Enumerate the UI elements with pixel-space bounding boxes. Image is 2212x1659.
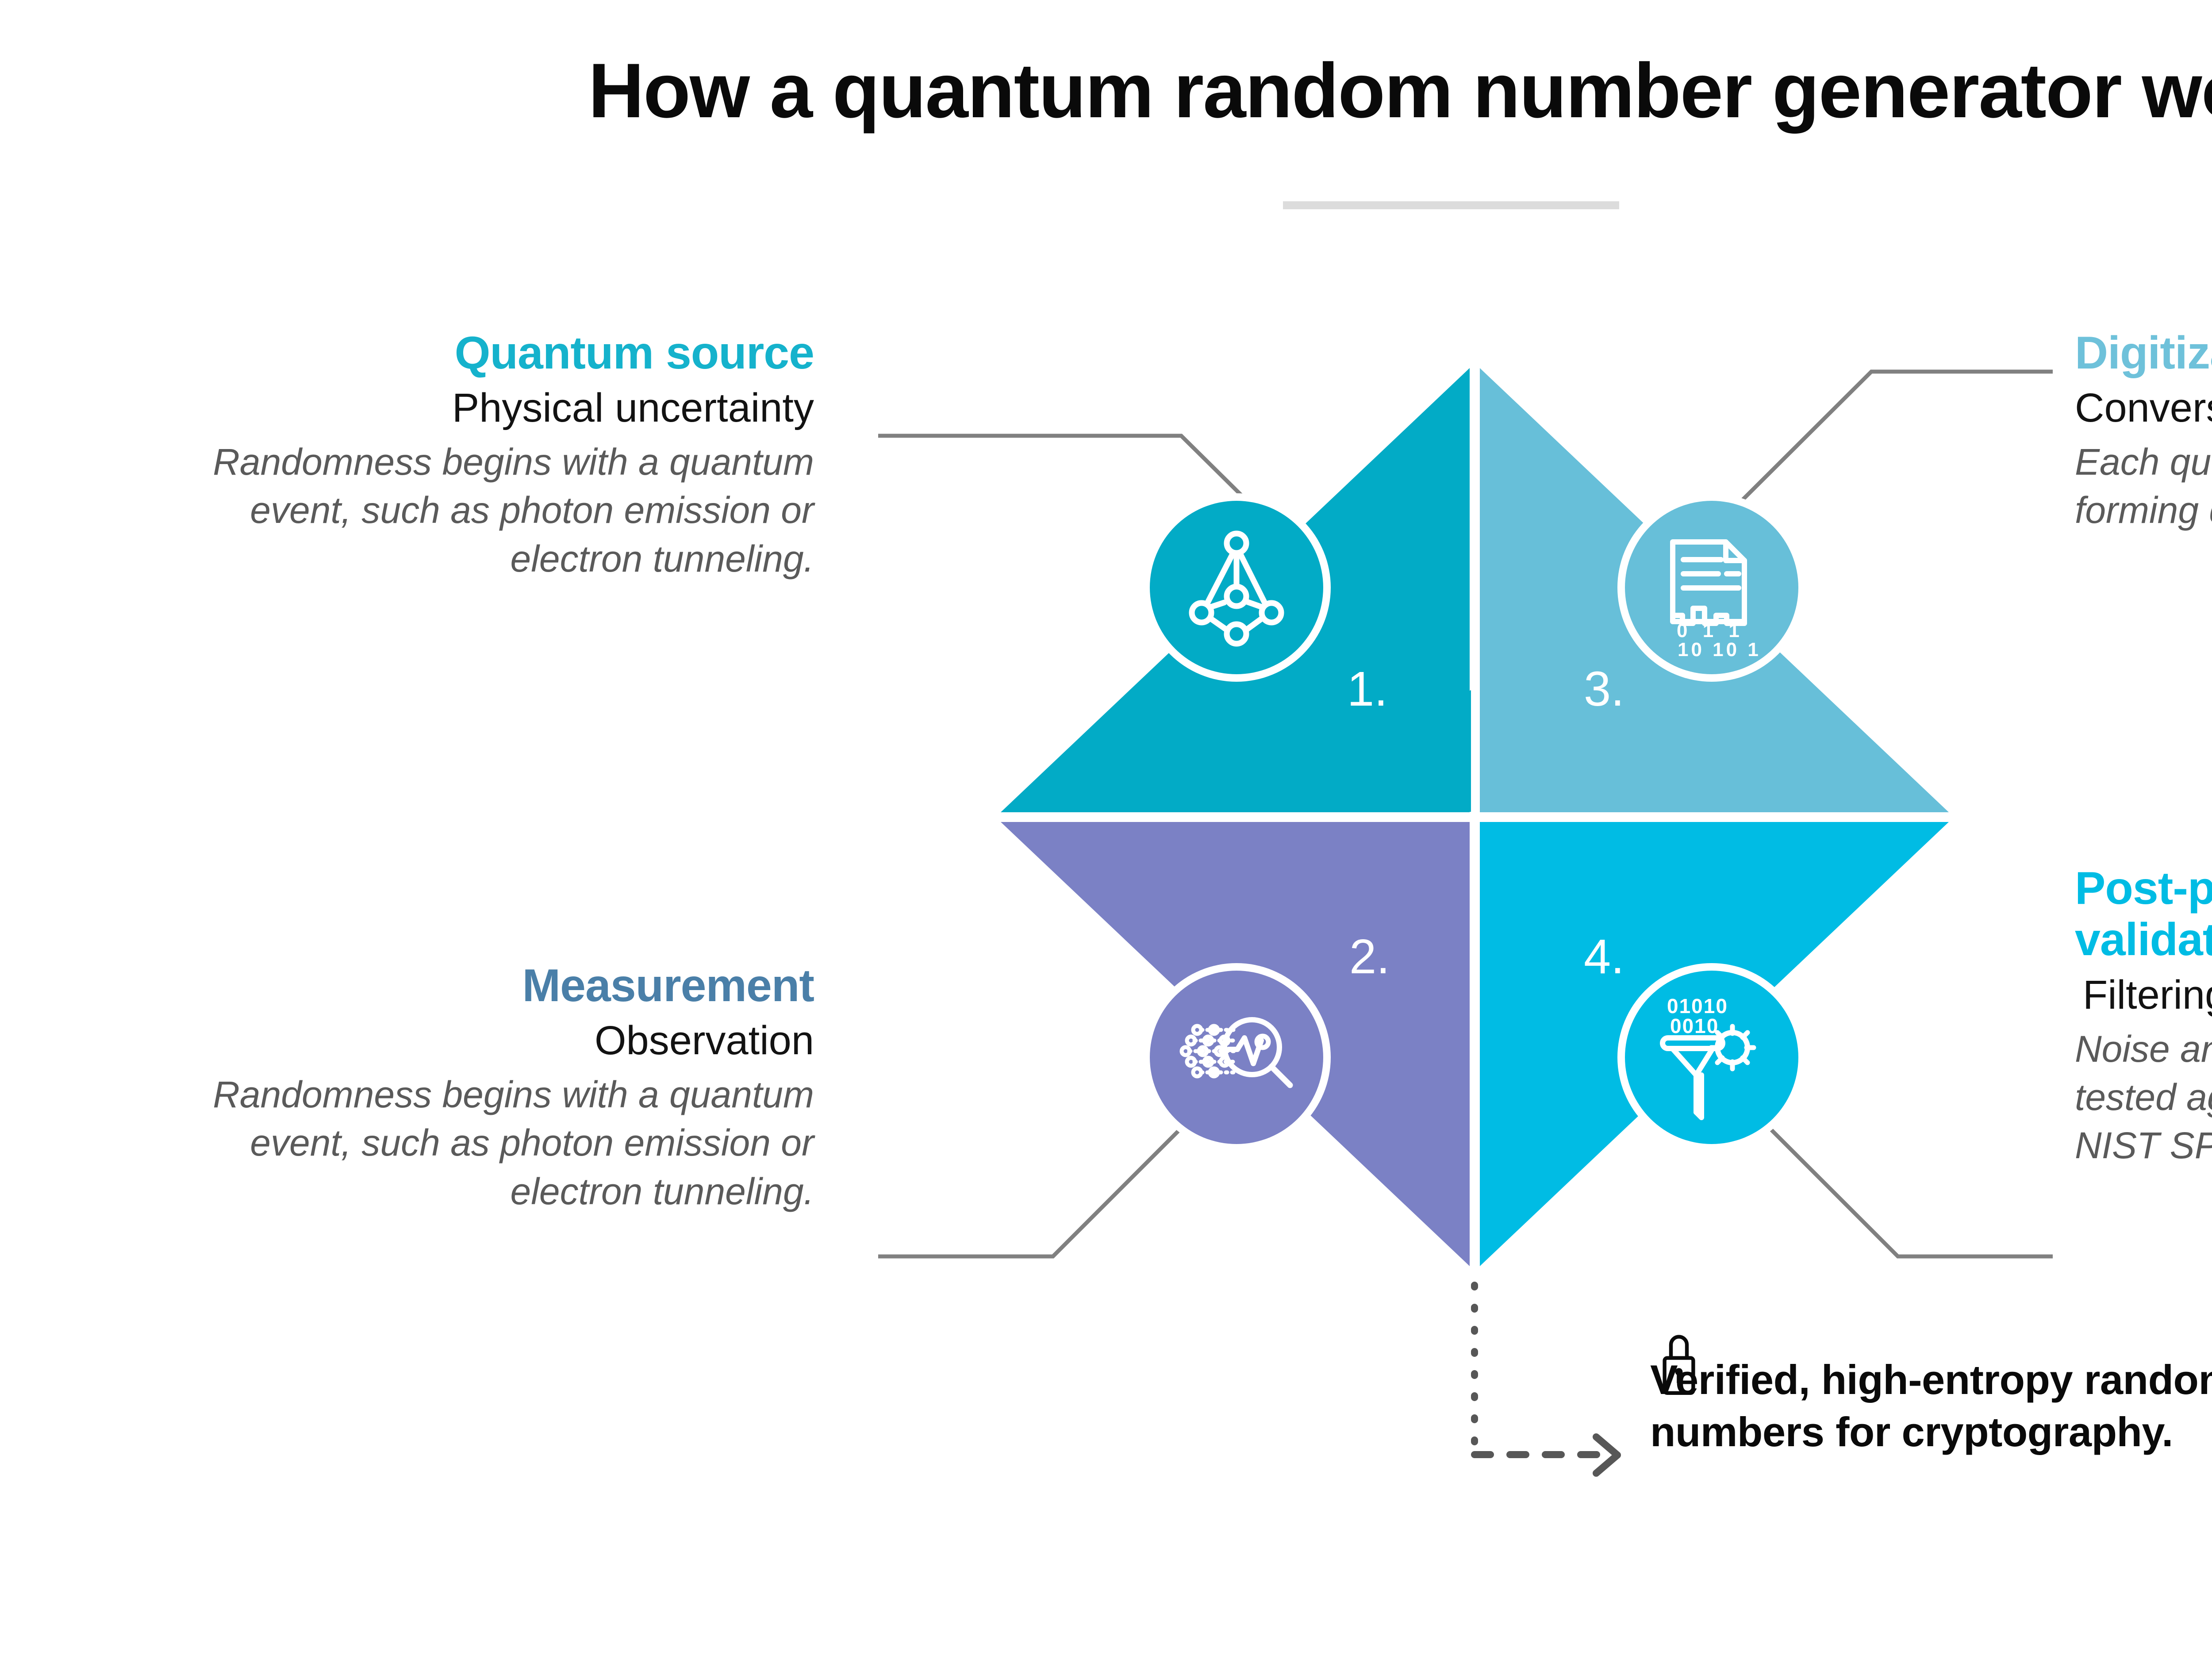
step-block-digitization: Digitization Conversion to binary Each q… (2075, 327, 2212, 535)
step-block-measurement: Measurement Observation Randomness begin… (142, 960, 814, 1216)
step-1-icon-badge[interactable] (1142, 493, 1331, 682)
step-3-description: Each quantum event becomes a 0 or 1, for… (2075, 438, 2212, 534)
step-2-subtitle: Observation (142, 1018, 814, 1064)
step-3-binary-bottom: 10 10 1 (1678, 639, 1761, 661)
step-1-heading: Quantum source (142, 327, 814, 379)
step-2-icon-circle (1150, 971, 1323, 1144)
step-number-3: 3. (1584, 662, 1624, 716)
step-2-description: Randomness begins with a quantum event, … (142, 1071, 814, 1216)
output-dashed-arrow (1475, 1285, 1617, 1473)
step-number-2: 2. (1349, 929, 1390, 984)
step-number-4: 4. (1584, 929, 1624, 984)
step-4-heading: Post-processing & validation (2075, 863, 2212, 966)
step-block-quantum-source: Quantum source Physical uncertainty Rand… (142, 327, 814, 583)
step-number-1: 1. (1347, 662, 1388, 716)
step-4-subtitle: Filtering & verification (2075, 972, 2212, 1019)
output-text-line1: Verified, high-entropy random (1650, 1354, 2212, 1406)
step-1-description: Randomness begins with a quantum event, … (142, 438, 814, 583)
step-3-subtitle: Conversion to binary (2075, 385, 2212, 432)
step-4-icon-badge[interactable]: 01010 0010 (1617, 963, 1806, 1152)
step-1-subtitle: Physical uncertainty (142, 385, 814, 432)
output-text-line2: numbers for cryptography. (1650, 1406, 2212, 1458)
step-3-icon-badge[interactable]: 0 1 1 10 10 1 (1617, 493, 1806, 682)
step-2-heading: Measurement (142, 960, 814, 1011)
step-3-binary-top: 0 1 1 (1677, 620, 1744, 641)
step-4-description: Noise and bias are removed; data is test… (2075, 1025, 2212, 1170)
step-2-icon-badge[interactable] (1142, 963, 1331, 1152)
step-3-heading: Digitization (2075, 327, 2212, 379)
step-4-binary-bottom: 0010 (1670, 1014, 1719, 1037)
output-summary: Verified, high-entropy random numbers fo… (1650, 1354, 2212, 1459)
step-block-post-processing: Post-processing & validation Filtering &… (2075, 863, 2212, 1170)
